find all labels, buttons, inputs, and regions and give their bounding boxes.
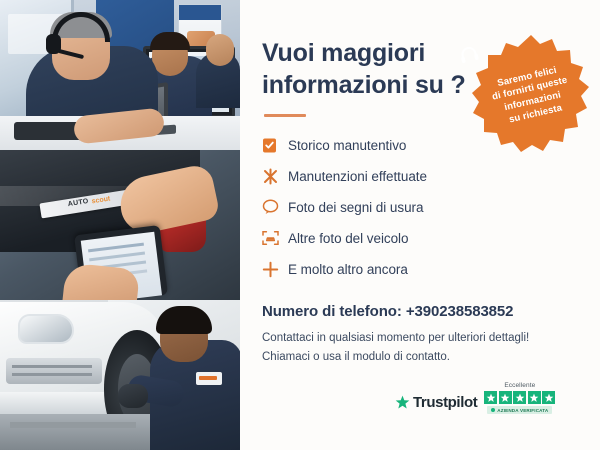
clipboard-check-icon (262, 137, 288, 154)
request-info-badge: Saremo felici di fornirti queste informa… (470, 33, 592, 155)
trustpilot-stars (484, 391, 555, 404)
trustpilot-star-icon (395, 395, 410, 410)
title-underline (264, 114, 306, 117)
vehicle-inspection-photo (0, 150, 240, 300)
feature-label: Altre foto del veicolo (288, 231, 408, 246)
trustpilot-rating: Eccellente AZIEND (484, 382, 555, 414)
verified-check-icon (491, 408, 495, 412)
feature-label: Foto dei segni di usura (288, 200, 423, 215)
trustpilot-star-1 (484, 391, 497, 404)
feature-label: E molto altro ancora (288, 262, 408, 277)
feature-item-molto-altro: E molto altro ancora (262, 255, 576, 283)
feature-item-altre-foto-veicolo: Altre foto del veicolo (262, 224, 576, 252)
verified-company-text: AZIENDA VERIFICATA (497, 408, 548, 413)
info-panel: Vuoi maggiori informazioni su ? Saremo f… (240, 0, 600, 450)
feature-label: Storico manutentivo (288, 138, 406, 153)
car-scan-icon (262, 230, 288, 246)
trustpilot-rating-label: Eccellente (504, 382, 535, 389)
call-center-agents-photo (0, 0, 240, 150)
feature-label: Manutenzioni effettuate (288, 169, 427, 184)
trustpilot-widget[interactable]: Trustpilot Eccellente (395, 382, 555, 414)
trustpilot-star-4 (528, 391, 541, 404)
phone-label: Numero di telefono: (262, 303, 402, 320)
mechanic-uniform-badge (196, 372, 222, 385)
speech-bubble-icon (262, 199, 288, 215)
trustpilot-star-3 (513, 391, 526, 404)
phone-number[interactable]: +390238583852 (406, 303, 514, 320)
verified-company-badge: AZIENDA VERIFICATA (487, 406, 552, 414)
headset-icon (458, 44, 480, 65)
phone-description-line-1: Contattaci in qualsiasi momento per ulte… (262, 329, 576, 348)
phone-description-line-2: Chiamaci o usa il modulo di contatto. (262, 348, 576, 367)
trustpilot-wordmark: Trustpilot (413, 394, 477, 411)
car-grille (6, 358, 102, 384)
phone-description: Contattaci in qualsiasi momento per ulte… (262, 329, 576, 366)
photo-collage (0, 0, 240, 450)
agent-third-head (206, 34, 234, 66)
phone-heading: Numero di telefono: +390238583852 (262, 303, 576, 320)
car-headlight (18, 314, 74, 344)
tools-cross-icon (262, 168, 288, 185)
feature-item-foto-segni-usura: Foto dei segni di usura (262, 193, 576, 221)
mechanic-wheel-photo (0, 300, 240, 450)
trustpilot-logo: Trustpilot (395, 394, 477, 414)
trustpilot-star-2 (499, 391, 512, 404)
vehicle-lift (0, 414, 150, 450)
feature-item-manutenzioni-effettuate: Manutenzioni effettuate (262, 162, 576, 190)
plus-icon (262, 261, 288, 278)
mechanic-glove (118, 384, 148, 408)
trustpilot-star-5 (542, 391, 555, 404)
